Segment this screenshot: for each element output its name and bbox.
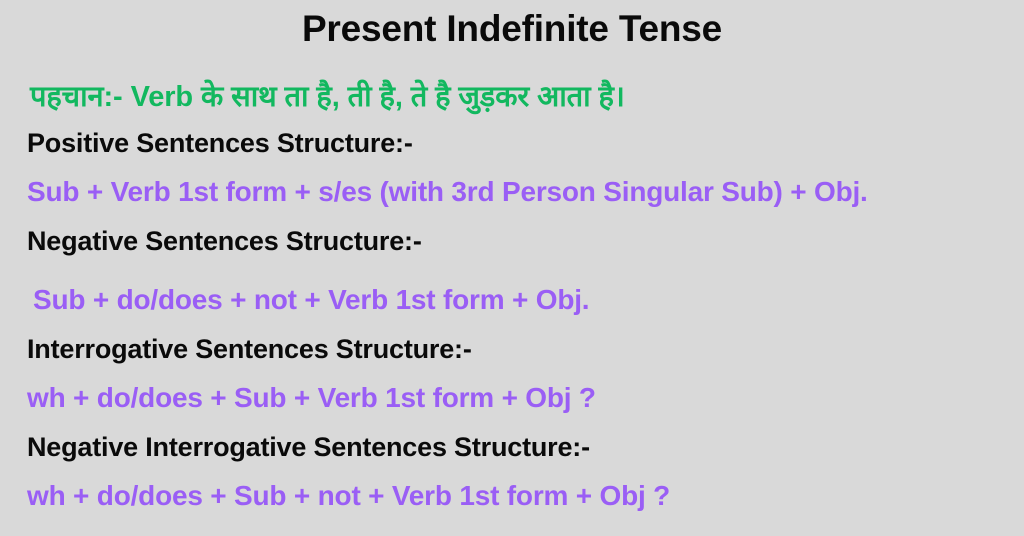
negative-sentences-heading: Negative Sentences Structure:- bbox=[27, 226, 422, 257]
interrogative-sentences-formula: wh + do/does + Sub + Verb 1st form + Obj… bbox=[27, 382, 596, 414]
negative-interrogative-sentences-heading: Negative Interrogative Sentences Structu… bbox=[27, 432, 590, 463]
interrogative-sentences-heading: Interrogative Sentences Structure:- bbox=[27, 334, 472, 365]
identification-rule-text: पहचान:- Verb के साथ ता है, ती है, ते है … bbox=[30, 76, 625, 115]
page-title: Present Indefinite Tense bbox=[0, 8, 1024, 50]
negative-interrogative-sentences-formula: wh + do/does + Sub + not + Verb 1st form… bbox=[27, 480, 670, 512]
negative-sentences-formula: Sub + do/does + not + Verb 1st form + Ob… bbox=[33, 284, 589, 316]
grammar-slide: Present Indefinite Tense पहचान:- Verb के… bbox=[0, 0, 1024, 536]
positive-sentences-formula: Sub + Verb 1st form + s/es (with 3rd Per… bbox=[27, 176, 868, 208]
positive-sentences-heading: Positive Sentences Structure:- bbox=[27, 128, 413, 159]
